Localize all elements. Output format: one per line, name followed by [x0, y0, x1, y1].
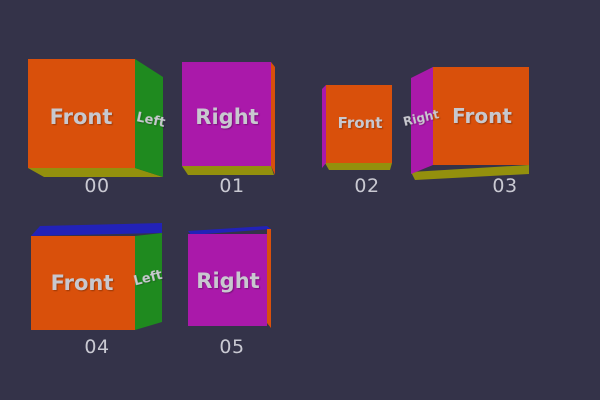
cube-item-02[interactable]: Front	[320, 80, 406, 180]
cube-item-05[interactable]: Right	[182, 224, 290, 336]
cube-04-top-face	[31, 223, 162, 236]
cube-index-04: 04	[84, 336, 109, 358]
cube-index-00: 00	[84, 175, 109, 197]
cube-01-bottom-face	[182, 166, 274, 175]
cube-item-01[interactable]: Right	[178, 56, 298, 186]
cube-index-05: 05	[219, 336, 244, 358]
cube-04-front-label: Front	[51, 271, 114, 295]
cube-03-render: Right Front	[408, 62, 536, 187]
cube-02-side-face	[322, 85, 326, 168]
cube-02-bottom-face	[325, 163, 392, 170]
cube-02-front-label: Front	[338, 114, 383, 132]
cube-04-render: Front Left	[26, 222, 176, 340]
cube-item-03[interactable]: Right Front	[408, 62, 536, 187]
cube-05-top-face	[188, 226, 271, 235]
cube-03-front-label: Front	[452, 104, 512, 128]
cube-index-03: 03	[492, 175, 517, 197]
cube-00-front-label: Front	[50, 105, 113, 129]
cube-01-front-label: Right	[195, 105, 258, 129]
cube-01-side-face	[271, 62, 275, 175]
cube-index-02: 02	[354, 175, 379, 197]
cube-00-render: Front Left	[26, 56, 176, 186]
cube-index-01: 01	[219, 175, 244, 197]
cube-05-render: Right	[182, 224, 290, 336]
cube-05-front-label: Right	[196, 269, 259, 293]
cube-item-00[interactable]: Front Left	[26, 56, 176, 186]
cube-05-side-face	[267, 229, 271, 328]
cube-item-04[interactable]: Front Left	[26, 222, 176, 340]
cube-grid-canvas: Front Left 00 Right 01 Front 02	[0, 0, 600, 400]
cube-02-render: Front	[320, 80, 406, 180]
cube-01-render: Right	[178, 56, 298, 186]
